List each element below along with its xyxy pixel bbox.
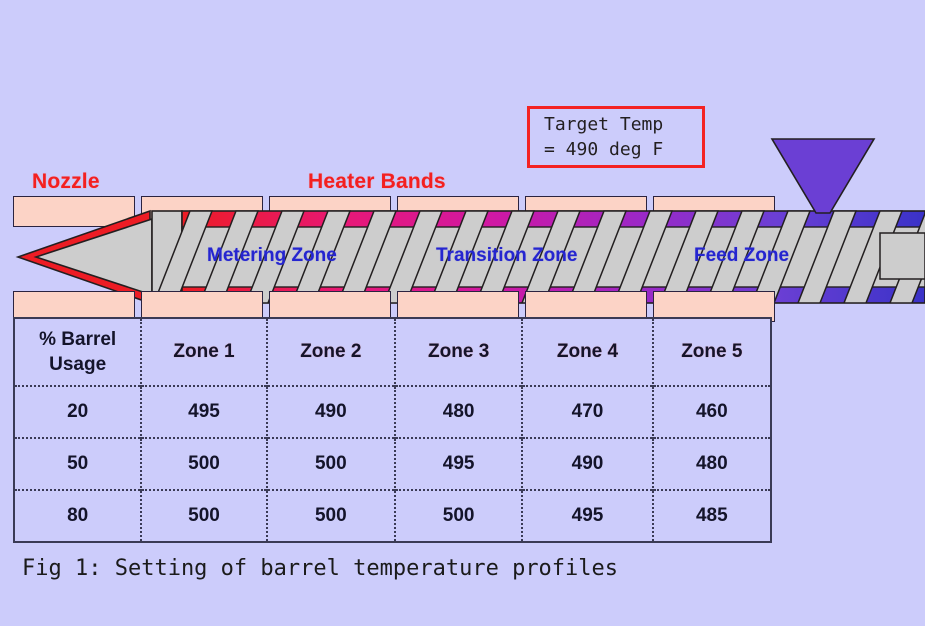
zone-label-transition: Transition Zone — [436, 245, 577, 267]
table-row: 80 500 500 500 495 485 — [14, 490, 771, 542]
row-2-zone-1: 500 — [141, 490, 266, 542]
header-zone-1: Zone 1 — [141, 318, 266, 386]
row-0-zone-2: 490 — [267, 386, 395, 438]
row-0-zone-3: 480 — [395, 386, 522, 438]
heater-bands-label: Heater Bands — [308, 170, 446, 194]
header-usage-line1: % Barrel — [15, 327, 140, 352]
row-2-zone-4: 495 — [522, 490, 652, 542]
zone-label-feed: Feed Zone — [694, 245, 789, 267]
header-zone-2: Zone 2 — [267, 318, 395, 386]
header-zone-3: Zone 3 — [395, 318, 522, 386]
table-row: 20 495 490 480 470 460 — [14, 386, 771, 438]
header-barrel-usage: % Barrel Usage — [14, 318, 141, 386]
row-2-zone-5: 485 — [653, 490, 771, 542]
row-0-zone-4: 470 — [522, 386, 652, 438]
row-1-usage: 50 — [14, 438, 141, 490]
row-1-zone-4: 490 — [522, 438, 652, 490]
target-temp-callout: Target Temp = 490 deg F — [527, 106, 705, 168]
table-row: 50 500 500 495 490 480 — [14, 438, 771, 490]
figure-caption: Fig 1: Setting of barrel temperature pro… — [22, 556, 618, 581]
row-2-usage: 80 — [14, 490, 141, 542]
row-0-zone-1: 495 — [141, 386, 266, 438]
header-zone-5: Zone 5 — [653, 318, 771, 386]
figure-stage: Nozzle Heater Bands Target Temp = 490 de… — [0, 0, 925, 626]
header-usage-line2: Usage — [15, 352, 140, 377]
row-1-zone-1: 500 — [141, 438, 266, 490]
nozzle-label: Nozzle — [32, 170, 100, 194]
barrel-temperature-table: % Barrel Usage Zone 1 Zone 2 Zone 3 Zone… — [13, 317, 772, 543]
row-0-usage: 20 — [14, 386, 141, 438]
zone-label-metering: Metering Zone — [207, 245, 337, 267]
row-1-zone-2: 500 — [267, 438, 395, 490]
row-0-zone-5: 460 — [653, 386, 771, 438]
row-1-zone-5: 480 — [653, 438, 771, 490]
hopper — [768, 136, 878, 216]
screw-end-block — [880, 233, 925, 279]
row-2-zone-3: 500 — [395, 490, 522, 542]
row-1-zone-3: 495 — [395, 438, 522, 490]
target-temp-line2: = 490 deg F — [544, 137, 702, 162]
row-2-zone-2: 500 — [267, 490, 395, 542]
table-header-row: % Barrel Usage Zone 1 Zone 2 Zone 3 Zone… — [14, 318, 771, 386]
header-zone-4: Zone 4 — [522, 318, 652, 386]
target-temp-line1: Target Temp — [544, 112, 702, 137]
